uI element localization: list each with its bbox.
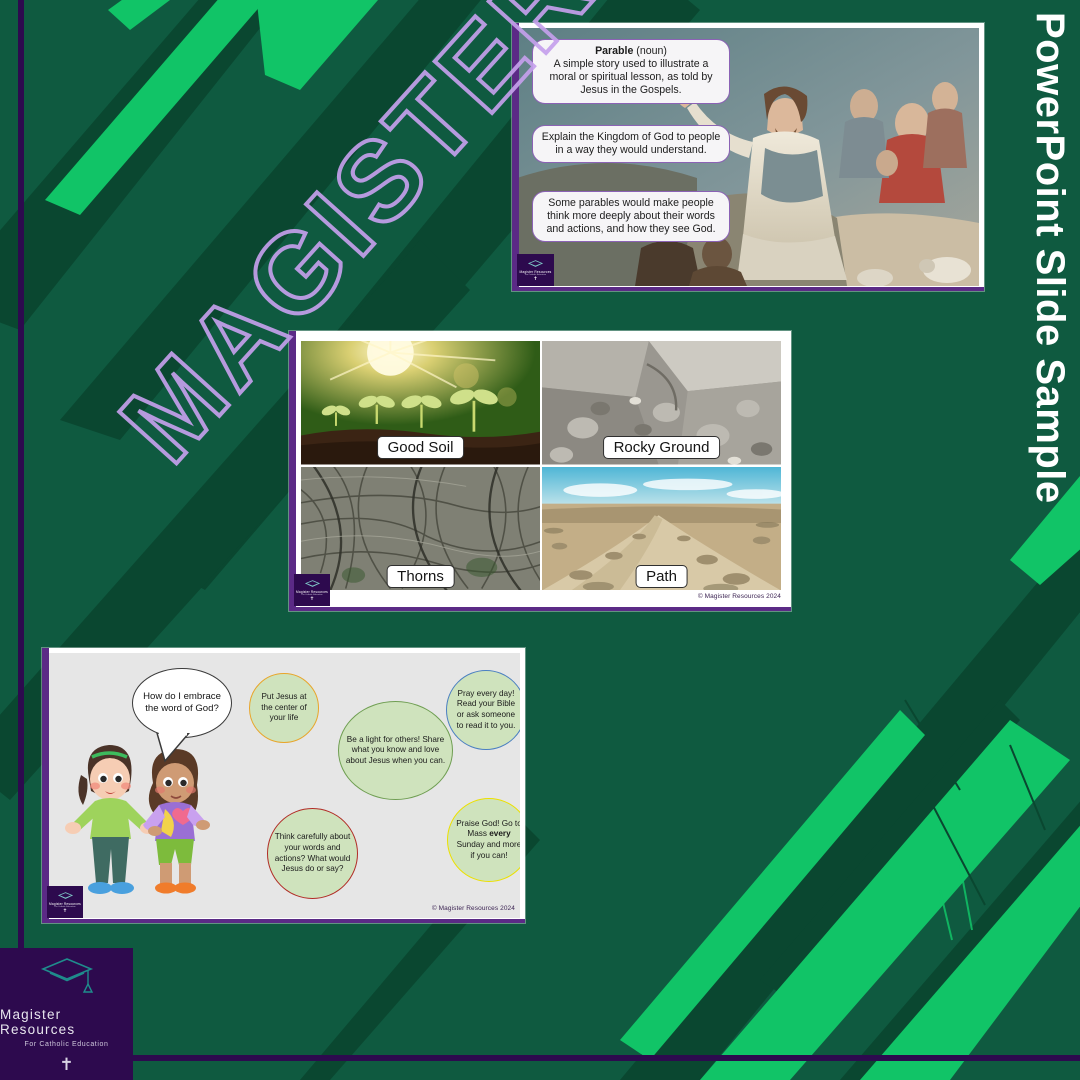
brand-tagline: For Catholic Education: [24, 1041, 108, 1048]
parable-definition-text: A simple story used to illustrate a mora…: [549, 58, 712, 96]
graduation-cap-icon: [40, 955, 94, 1000]
parable-purpose-bubble: Explain the Kingdom of God to people in …: [532, 125, 730, 163]
speech-bubble-tail: [155, 733, 195, 763]
left-frame-line: [18, 0, 24, 1080]
slide-logo-badge: Magister Resources For Catholic Educatio…: [47, 886, 83, 918]
slide-accent-bar: [42, 648, 49, 923]
slide-1-parable[interactable]: Parable (noun) A simple story used to il…: [512, 23, 984, 291]
parable-reflection-bubble: Some parables would make people think mo…: [532, 191, 730, 242]
label-rocky-ground: Rocky Ground: [603, 436, 721, 459]
grid-cell-path: Path: [542, 467, 781, 591]
slide-bottom-bar: [42, 919, 525, 923]
label-thorns: Thorns: [386, 565, 455, 588]
graduation-cap-icon: [305, 579, 320, 590]
parable-definition-bubble: Parable (noun) A simple story used to il…: [532, 39, 730, 104]
answer-bubble-pray-every-day: Pray every day! Read your Bible or ask s…: [446, 670, 520, 750]
cross-icon: ✝: [310, 597, 314, 602]
cross-icon: ✝: [59, 1056, 73, 1073]
slide-logo-badge: Magister Resources For Catholic Educatio…: [517, 254, 554, 286]
brand-logo: Magister Resources For Catholic Educatio…: [0, 948, 133, 1080]
question-speech-bubble: How do I embrace the word of God?: [132, 668, 232, 738]
answer-bubble-be-a-light: Be a light for others! Share what you kn…: [338, 701, 453, 800]
slide-3-embrace-word-of-god[interactable]: How do I embrace the word of God? Put Je…: [42, 648, 525, 923]
page-title-text: PowerPoint Slide Sample: [1018, 12, 1080, 504]
label-path: Path: [635, 565, 688, 588]
parable-term: Parable: [595, 45, 633, 57]
answer-bubble-praise-god: Praise God! Go to Mass every Sunday and …: [447, 798, 520, 882]
parable-part-of-speech: (noun): [633, 45, 667, 57]
label-good-soil: Good Soil: [377, 436, 465, 459]
graduation-cap-icon: [528, 259, 543, 270]
slide-accent-bar: [512, 23, 519, 291]
children-illustration: [59, 731, 219, 909]
praise-god-text-bold: every: [489, 829, 510, 838]
grid-cell-good-soil: Good Soil: [301, 341, 540, 465]
brand-name: Magister Resources: [0, 1007, 133, 1037]
answer-bubble-put-jesus-center: Put Jesus at the center of your life: [249, 673, 319, 743]
cross-icon: ✝: [63, 909, 67, 914]
slide-logo-badge: Magister Resources For Catholic Educatio…: [294, 574, 330, 606]
cross-icon: ✝: [533, 277, 537, 282]
slide-bottom-bar: [512, 287, 984, 291]
grid-cell-rocky-ground: Rocky Ground: [542, 341, 781, 465]
copyright-text: © Magister Resources 2024: [698, 593, 781, 600]
copyright-text: © Magister Resources 2024: [432, 905, 515, 912]
answer-bubble-think-carefully: Think carefully about your words and act…: [267, 808, 358, 899]
bottom-frame-line: [98, 1055, 1080, 1061]
slide-2-soil-types[interactable]: Good Soil: [289, 331, 791, 611]
grid-cell-thorns: Thorns: [301, 467, 540, 591]
graduation-cap-icon: [58, 891, 73, 902]
page-title: PowerPoint Slide Sample: [1018, 0, 1080, 520]
slide-bottom-bar: [289, 607, 791, 611]
soil-grid: Good Soil: [301, 341, 781, 590]
praise-god-text-post: Sunday and more if you can!: [457, 840, 520, 860]
slide-accent-bar: [289, 331, 296, 611]
